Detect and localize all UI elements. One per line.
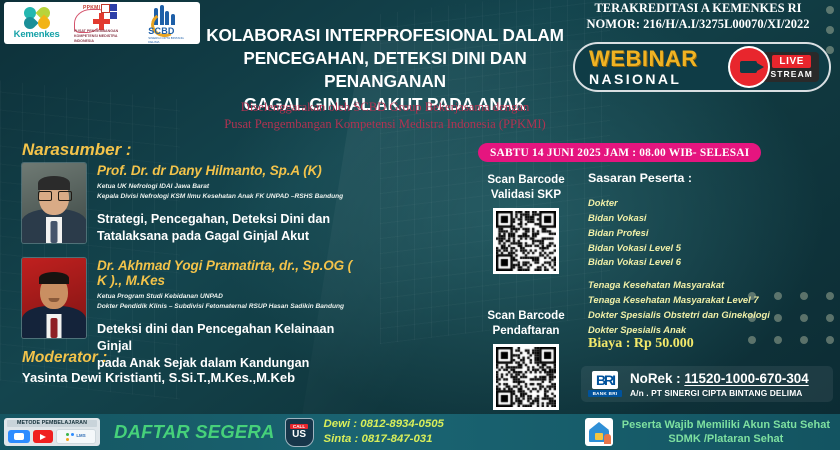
ppkmi-logo-label: PPKMI xyxy=(83,5,100,11)
audience-item: Dokter xyxy=(588,196,770,211)
zoom-icon xyxy=(8,430,30,443)
audience-list: Dokter Bidan Vokasi Bidan Profesi Bidan … xyxy=(588,196,770,338)
ppkmi-square-c-icon xyxy=(110,12,117,19)
audience-group-2: Tenaga Kesehatan Masyarakat Tenaga Keseh… xyxy=(588,278,770,337)
call-us-badge: CALL US xyxy=(285,418,314,447)
scbd-logo-label: SCBD xyxy=(148,26,174,36)
schedule-badge: SABTU 14 JUNI 2025 JAM : 08.00 WIB- SELE… xyxy=(478,143,761,162)
bank-bri-label: BANK BRI xyxy=(588,390,622,397)
bank-account-number[interactable]: 11520-1000-670-304 xyxy=(684,371,808,386)
speaker-2-topic-line-1: Deteksi dini dan Pencegahan Kelainaan Gi… xyxy=(97,321,362,355)
ppkmi-square-a-icon xyxy=(101,4,110,13)
speaker-2-topic: Deteksi dini dan Pencegahan Kelainaan Gi… xyxy=(97,321,362,372)
daftar-segera-text: DAFTAR SEGERA xyxy=(114,421,275,443)
contact-sinta: Sinta : 0817-847-031 xyxy=(324,432,444,447)
webinar-badge-text: WEBINAR NASIONAL xyxy=(589,48,698,86)
qr-block-skp: Scan Barcode Validasi SKP xyxy=(470,172,582,274)
moderator-name: Yasinta Dewi Kristianti, S.Si.T.,M.Kes.,… xyxy=(22,370,295,385)
webinar-poster: Kemenkes PPKMI PUSAT PENGEMBANGAN KOMPET… xyxy=(0,0,840,450)
speaker-1-topic: Strategi, Pencegahan, Deteksi Dini dan T… xyxy=(97,211,362,245)
qr-pendaftaran-caption: Scan Barcode Pendaftaran xyxy=(470,308,582,338)
speaker-1-credential-2: Kepala Divisi Nefrologi KSM Ilmu Kesehat… xyxy=(97,192,362,202)
speaker-1-topic-line-1: Strategi, Pencegahan, Deteksi Dini dan xyxy=(97,211,362,228)
metode-pembelajaran-box: METODE PEMBELAJARAN LMS xyxy=(4,418,100,446)
speaker-2-credentials: Ketua Program Studi Kebidanan UNPAD Dokt… xyxy=(97,292,362,312)
lms-label: LMS xyxy=(76,434,85,439)
stream-label: STREAM xyxy=(771,70,814,79)
kemenkes-logo: Kemenkes xyxy=(14,7,60,40)
live-stream-chip: LIVE STREAM xyxy=(730,48,820,86)
bank-bri-logo: BRI BANK BRI xyxy=(588,371,622,397)
us-label: US xyxy=(292,430,306,440)
satu-sehat-notice: Peserta Wajib Memiliki Akun Satu Sehat S… xyxy=(585,418,830,447)
moderator-label: Moderator : xyxy=(22,349,107,367)
audience-list-spacer xyxy=(588,270,770,278)
speaker-1-credentials: Ketua UK Nefrologi IDAI Jawa Barat Kepal… xyxy=(97,182,362,202)
bank-account-info: NoRek : 11520-1000-670-304 A/n . PT SINE… xyxy=(630,371,809,398)
satu-sehat-icon xyxy=(585,418,613,446)
audience-item: Bidan Vokasi xyxy=(588,211,770,226)
organizer-line-2: Pusat Pengembangan Kompetensi Medistra I… xyxy=(185,116,585,133)
bank-account-row: NoRek : 11520-1000-670-304 xyxy=(630,371,809,386)
kemenkes-logo-label: Kemenkes xyxy=(14,30,60,40)
narasumber-section-label: Narasumber : xyxy=(22,140,132,160)
qr-code-validasi-skp[interactable] xyxy=(493,208,559,274)
speaker-1-glasses-icon xyxy=(38,191,52,201)
ppkmi-square-b-icon xyxy=(110,4,117,11)
logo-bar: Kemenkes PPKMI PUSAT PENGEMBANGAN KOMPET… xyxy=(4,2,200,44)
qr-skp-caption-line-1: Scan Barcode xyxy=(470,172,582,187)
speaker-2-credential-2: Dokter Pendidik Klinis – Subdivisi Fetom… xyxy=(97,302,362,312)
qr-block-pendaftaran: Scan Barcode Pendaftaran xyxy=(470,308,582,410)
audience-item: Bidan Vokasi Level 5 xyxy=(588,241,770,256)
organizer-text: Diselenggarakan oleh SCBD Group Bekerjas… xyxy=(185,99,585,133)
speaker-card-1: Prof. Dr. dr Dany Hilmanto, Sp.A (K) Ket… xyxy=(22,163,362,245)
accreditation-line-1: TERAKREDITASI A KEMENKES RI xyxy=(564,1,832,17)
ppkmi-logo-sublabel: PUSAT PENGEMBANGAN KOMPETENSI MEDISTRA I… xyxy=(74,29,133,45)
speaker-2-info: Dr. Akhmad Yogi Pramatirta, dr., Sp.OG (… xyxy=(97,258,362,372)
audience-item: Bidan Profesi xyxy=(588,226,770,241)
organizer-line-1: Diselenggarakan oleh SCBD Group Bekerjas… xyxy=(185,99,585,116)
accreditation-line-2: NOMOR: 216/H/A.I/3275L00070/XI/2022 xyxy=(564,17,832,33)
audience-title: Sasaran Peserta : xyxy=(588,171,692,185)
speaker-2-credential-1: Ketua Program Studi Kebidanan UNPAD xyxy=(97,292,362,302)
speaker-1-avatar xyxy=(22,163,86,243)
qr-pendaftaran-caption-line-2: Pendaftaran xyxy=(470,323,582,338)
speaker-1-topic-line-2: Tatalaksana pada Gagal Ginjal Akut xyxy=(97,228,362,245)
bank-account-card: BRI BANK BRI NoRek : 11520-1000-670-304 … xyxy=(581,366,833,402)
satu-sehat-line-1: Peserta Wajib Memiliki Akun Satu Sehat xyxy=(622,418,830,432)
metode-icons: LMS xyxy=(7,429,97,444)
nasional-word: NASIONAL xyxy=(589,72,698,86)
ppkmi-medical-cross-icon xyxy=(93,13,110,30)
speaker-1-credential-1: Ketua UK Nefrologi IDAI Jawa Barat xyxy=(97,182,362,192)
title-line-2: PENCEGAHAN, DETEKSI DINI DAN PENANGANAN xyxy=(190,47,580,93)
satu-sehat-text: Peserta Wajib Memiliki Akun Satu Sehat S… xyxy=(622,418,830,447)
speaker-2-avatar xyxy=(22,258,86,338)
webinar-badge: WEBINAR NASIONAL LIVE STREAM xyxy=(573,42,831,92)
norek-label: NoRek : xyxy=(630,371,681,386)
audience-item: Tenaga Kesehatan Masyarakat Level 7 xyxy=(588,293,770,308)
lms-icon: LMS xyxy=(56,429,96,444)
webinar-word: WEBINAR xyxy=(589,48,698,70)
bank-account-name: A/n . PT SINERGI CIPTA BINTANG DELIMA xyxy=(630,388,809,398)
scbd-logo-sublabel: SINERGI CIPTA BINTANG DELIMA xyxy=(148,36,190,44)
scbd-logo: SCBD SINERGI CIPTA BINTANG DELIMA xyxy=(144,4,190,42)
youtube-icon xyxy=(33,430,53,443)
qr-skp-caption: Scan Barcode Validasi SKP xyxy=(470,172,582,202)
audience-item: Bidan Vokasi Level 6 xyxy=(588,255,770,270)
audience-group-1: Dokter Bidan Vokasi Bidan Profesi Bidan … xyxy=(588,196,770,270)
contact-dewi: Dewi : 0812-8934-0505 xyxy=(324,417,444,432)
video-camera-icon xyxy=(730,48,768,86)
title-line-1: KOLABORASI INTERPROFESIONAL DALAM xyxy=(190,24,580,47)
satu-sehat-line-2: SDMK /Plataran Sehat xyxy=(622,432,830,446)
audience-item: Tenaga Kesehatan Masyarakat xyxy=(588,278,770,293)
fee-text: Biaya : Rp 50.000 xyxy=(588,336,694,352)
qr-skp-caption-line-2: Validasi SKP xyxy=(470,187,582,202)
live-label: LIVE xyxy=(772,55,811,68)
ppkmi-logo: PPKMI PUSAT PENGEMBANGAN KOMPETENSI MEDI… xyxy=(71,4,133,42)
bri-logo-icon: BRI xyxy=(592,371,618,389)
qr-code-pendaftaran[interactable] xyxy=(493,344,559,410)
bri-logo-text: BRI xyxy=(596,372,614,388)
speaker-1-info: Prof. Dr. dr Dany Hilmanto, Sp.A (K) Ket… xyxy=(97,163,362,245)
metode-pembelajaran-title: METODE PEMBELAJARAN xyxy=(7,420,97,427)
speaker-2-name: Dr. Akhmad Yogi Pramatirta, dr., Sp.OG (… xyxy=(97,258,362,288)
qr-pendaftaran-caption-line-1: Scan Barcode xyxy=(470,308,582,323)
speaker-1-name: Prof. Dr. dr Dany Hilmanto, Sp.A (K) xyxy=(97,163,362,178)
audience-item: Dokter Spesialis Obstetri dan Ginekologi xyxy=(588,308,770,323)
footer-bar: METODE PEMBELAJARAN LMS DAFTAR SEGERA CA… xyxy=(0,414,840,450)
kemenkes-mark-icon xyxy=(24,7,50,29)
contact-list: Dewi : 0812-8934-0505 Sinta : 0817-847-0… xyxy=(324,417,444,448)
accreditation-text: TERAKREDITASI A KEMENKES RI NOMOR: 216/H… xyxy=(564,1,832,32)
